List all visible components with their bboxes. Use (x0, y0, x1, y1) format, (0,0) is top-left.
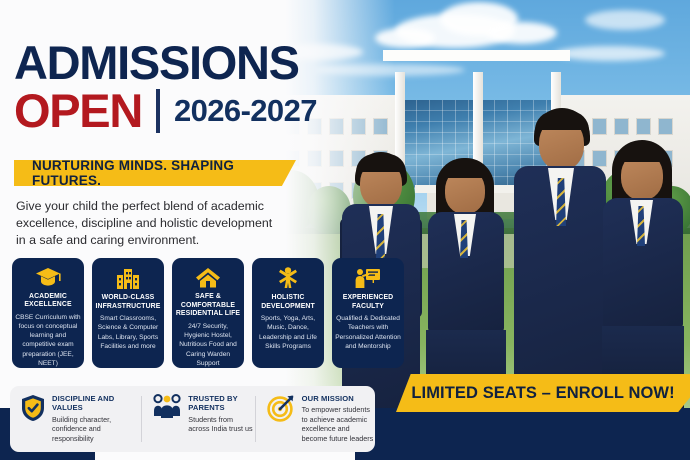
trust-item-title: TRUSTED BY PARENTS (188, 394, 254, 413)
trust-item-parents[interactable]: TRUSTED BY PARENTS Students from across … (142, 386, 254, 434)
feature-card-title: ACADEMIC EXCELLENCE (12, 293, 84, 310)
cloud (487, 22, 557, 44)
feature-card-desc: 24/7 Security, Hygienic Hostel, Nutritio… (172, 322, 244, 368)
building-roof-cap (383, 50, 570, 61)
trust-item-discipline[interactable]: DISCIPLINE AND VALUES Building character… (10, 386, 141, 443)
feature-card-title: WORLD-CLASS INFRASTRUCTURE (92, 294, 164, 311)
academic-year: 2026-2027 (174, 93, 317, 129)
feature-card-title: EXPERIENCED FACULTY (332, 294, 404, 311)
feature-card-residential-life[interactable]: SAFE & COMFORTABLE RESIDENTIAL LIFE 24/7… (172, 258, 244, 368)
cta-label: LIMITED SEATS – ENROLL NOW! (411, 384, 674, 403)
home-icon (195, 265, 221, 290)
student-girl-left (424, 158, 508, 412)
headline-divider (156, 89, 160, 133)
headline-open: OPEN (14, 88, 142, 134)
feature-card-desc: Qualified & Dedicated Teachers with Pers… (332, 314, 404, 351)
feature-card-world-class-infrastructure[interactable]: WORLD-CLASS INFRASTRUCTURE Smart Classro… (92, 258, 164, 368)
headline-open-row: OPEN 2026-2027 (14, 88, 317, 134)
student-boy-center (512, 108, 608, 412)
feature-card-title: HOLISTIC DEVELOPMENT (252, 294, 324, 311)
target-dart-icon (267, 394, 295, 443)
trust-item-desc: Students from across India trust us (188, 415, 254, 434)
graduation-cap-icon (35, 265, 61, 290)
cta-banner[interactable]: LIMITED SEATS – ENROLL NOW! (396, 374, 690, 412)
feature-cards: ACADEMIC EXCELLENCE CBSE Curriculum with… (12, 258, 404, 368)
headline-admissions: ADMISSIONS (14, 40, 299, 86)
trust-item-mission[interactable]: OUR MISSION To empower students to achie… (256, 386, 375, 443)
admissions-poster: ADMISSIONS OPEN 2026-2027 NURTURING MIND… (0, 0, 690, 460)
feature-card-desc: Sports, Yoga, Arts, Music, Dance, Leader… (252, 314, 324, 351)
shield-check-icon (21, 394, 45, 443)
tagline-ribbon: NURTURING MINDS. SHAPING FUTURES. (14, 160, 296, 186)
trust-item-desc: Building character, confidence and respo… (52, 415, 141, 443)
feature-card-academic-excellence[interactable]: ACADEMIC EXCELLENCE CBSE Curriculum with… (12, 258, 84, 368)
feature-card-experienced-faculty[interactable]: EXPERIENCED FACULTY Qualified & Dedicate… (332, 258, 404, 368)
trust-item-title: OUR MISSION (302, 394, 375, 403)
person-arms-up-icon (277, 265, 299, 291)
people-group-icon (153, 394, 181, 434)
tagline-text: NURTURING MINDS. SHAPING FUTURES. (14, 158, 296, 188)
feature-card-holistic-development[interactable]: HOLISTIC DEVELOPMENT Sports, Yoga, Arts,… (252, 258, 324, 368)
trust-item-desc: To empower students to achieve academic … (302, 405, 375, 443)
feature-card-desc: CBSE Curriculum with focus on conceptual… (12, 313, 84, 368)
feature-card-title: SAFE & COMFORTABLE RESIDENTIAL LIFE (172, 293, 244, 319)
student-girl-right (600, 140, 686, 412)
building-icon (116, 265, 140, 291)
feature-card-desc: Smart Classrooms, Science & Computer Lab… (92, 314, 164, 351)
teacher-board-icon (355, 265, 381, 291)
cloud (585, 10, 665, 30)
cloud (555, 46, 665, 61)
trust-panel: DISCIPLINE AND VALUES Building character… (10, 386, 375, 452)
trust-item-title: DISCIPLINE AND VALUES (52, 394, 141, 413)
intro-paragraph: Give your child the perfect blend of aca… (16, 198, 278, 249)
